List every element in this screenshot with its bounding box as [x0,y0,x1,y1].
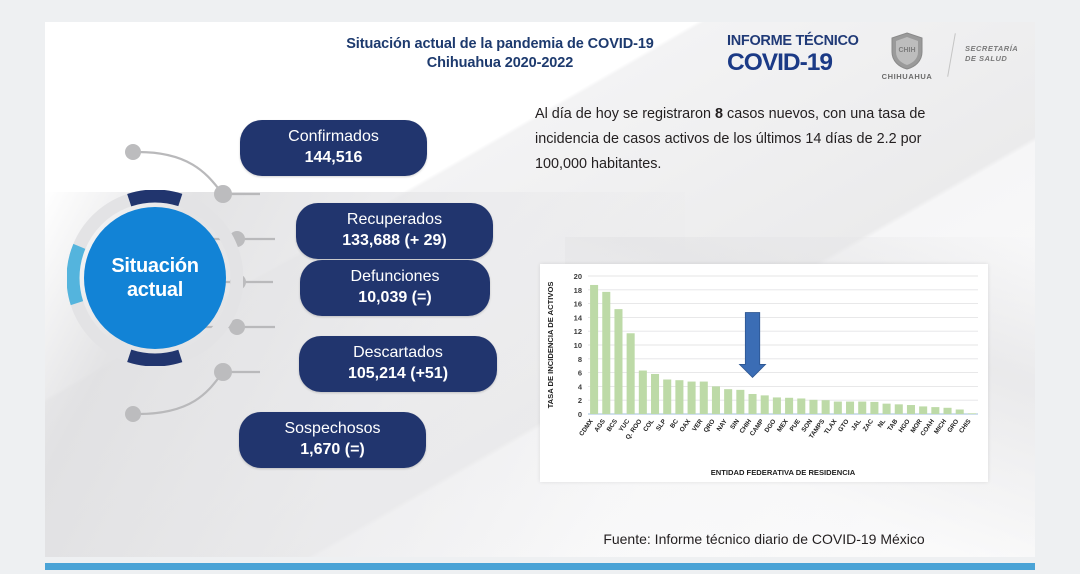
chart-x-tick-label: AGS [593,418,607,434]
chart-y-tick-label: 4 [578,382,583,391]
stat-pill-descartados[interactable]: Descartados 105,214 (+51) [299,336,497,392]
stat-label: Recuperados [314,210,475,230]
chart-x-tick-label: PUE [789,418,803,433]
chart-x-tick-label: SLP [655,418,668,433]
chihuahua-logo: CHIH CHIHUAHUA [873,32,941,81]
chart-bar [809,400,817,414]
page-title-line2: Chihuahua 2020-2022 [335,54,665,73]
chart-y-tick-label: 18 [574,286,582,295]
chart-bar [602,292,610,414]
slide-canvas: Situación actual de la pandemia de COVID… [45,22,1035,557]
page-gutter-right [1035,0,1080,574]
report-brand: INFORME TÉCNICO COVID-19 [727,33,867,75]
chart-bar [761,395,769,414]
secretaria-line1: SECRETARÍA [965,44,1018,54]
chart-bar [968,413,976,414]
stat-pill-defunciones[interactable]: Defunciones 10,039 (=) [300,260,490,316]
stat-label: Sospechosos [257,419,408,439]
chart-bar [590,285,598,414]
chart-bar [749,394,757,414]
situacion-actual-diagram: Situación actual Confirmados 144,516 Rec… [45,84,515,484]
chart-bar [675,380,683,414]
page-title: Situación actual de la pandemia de COVID… [335,35,665,73]
chihuahua-logo-label: CHIHUAHUA [873,72,941,81]
note-highlight: 8 [715,106,723,122]
chart-y-tick-label: 6 [578,369,582,378]
stat-value: 105,214 (+51) [317,363,479,384]
chart-bar [785,398,793,414]
slide-bottom-accent-bar [45,563,1035,570]
chart-bar [639,371,647,414]
chart-bar [834,402,842,414]
stat-value: 10,039 (=) [318,287,472,308]
chart-x-tick-label: DGO [763,418,777,434]
report-brand-title: COVID-19 [727,50,867,75]
chart-bar [736,390,744,414]
chart-bar [858,402,866,414]
chart-x-tick-label: CHIS [958,418,973,435]
screenshot-viewport: Situación actual de la pandemia de COVID… [0,0,1080,574]
chart-y-tick-label: 20 [574,272,582,281]
incidence-rate-chart-svg: 02468101214161820CDMXAGSBCSYUCQ. ROOCOLS… [540,264,988,482]
chart-y-tick-label: 14 [574,313,583,322]
chart-x-tick-label: MEX [776,418,790,434]
chart-bar [870,402,878,414]
stat-value: 133,688 (+ 29) [314,230,475,251]
chart-bar [651,374,659,414]
donut-center-label: Situación actual [67,190,243,366]
chart-x-tick-label: CAMP [749,418,766,438]
chart-x-tick-label: NL [877,418,888,429]
chart-y-tick-label: 16 [574,300,582,309]
chart-bar [846,402,854,414]
secretaria-de-salud-logo: SECRETARÍA DE SALUD [965,44,1018,64]
institution-logos: CHIH CHIHUAHUA SECRETARÍA DE SALUD [873,30,1033,86]
page-gutter-top [0,0,1080,22]
svg-text:CHIH: CHIH [898,47,915,54]
chart-x-tick-label: ZAC [862,418,875,433]
chart-x-tick-label: OAX [679,418,693,434]
chart-bar [773,397,781,414]
chart-bar [797,398,805,414]
chart-bar [907,405,915,414]
chart-bar [663,380,671,415]
chart-bar [919,406,927,414]
chart-x-tick-label: MICH [933,418,948,436]
incidence-rate-chart[interactable]: 02468101214161820CDMXAGSBCSYUCQ. ROOCOLS… [540,264,988,482]
page-title-line1: Situación actual de la pandemia de COVID… [335,35,665,54]
chart-y-axis-title: TASA DE INCIDENCIA DE ACTIVOS [546,282,555,409]
stat-pill-confirmados[interactable]: Confirmados 144,516 [240,120,427,176]
stat-pill-sospechosos[interactable]: Sospechosos 1,670 (=) [239,412,426,468]
chart-x-tick-label: QRO [703,418,717,434]
chart-bar [712,386,720,414]
chart-bar [883,404,891,414]
chart-y-tick-label: 10 [574,341,582,350]
chart-y-tick-label: 2 [578,396,582,405]
chart-bar [931,407,939,414]
donut-center-line1: Situación [111,254,198,278]
chart-x-tick-label: COL [642,418,656,433]
situacion-actual-donut: Situación actual [67,190,243,366]
chart-x-tick-label: COAH [919,418,936,438]
note-part1: Al día de hoy se registraron [535,106,715,122]
chart-x-axis-title: ENTIDAD FEDERATIVA DE RESIDENCIA [711,468,856,477]
chart-bar [688,382,696,414]
report-brand-subtitle: INFORME TÉCNICO [727,33,867,49]
chart-bar [614,309,622,414]
chart-bar [944,408,952,414]
stat-label: Descartados [317,343,479,363]
chart-bar [700,382,708,414]
chart-source-caption: Fuente: Informe técnico diario de COVID-… [540,531,988,547]
chart-bar [895,404,903,414]
stat-label: Defunciones [318,267,472,287]
chart-x-tick-label: HGO [898,418,912,434]
logo-divider [947,33,956,77]
chart-x-tick-label: JAL [850,418,863,432]
chart-y-tick-label: 0 [578,410,582,419]
chart-x-tick-label: NAY [716,418,730,433]
shield-icon: CHIH [890,32,924,70]
chart-x-tick-label: TLAX [823,418,839,436]
daily-summary-note: Al día de hoy se registraron 8 casos nue… [535,102,965,177]
stat-value: 144,516 [258,147,409,168]
stat-label: Confirmados [258,127,409,147]
chart-x-tick-label: GTO [837,418,851,433]
chart-x-tick-label: BCS [606,418,620,434]
chart-y-tick-label: 12 [574,327,582,336]
chart-bar [724,389,732,414]
chart-bar [822,400,830,414]
stat-pill-recuperados[interactable]: Recuperados 133,688 (+ 29) [296,203,493,259]
chart-bar [956,410,964,414]
secretaria-line2: DE SALUD [965,54,1018,64]
stat-value: 1,670 (=) [257,439,408,460]
donut-center-line2: actual [127,278,183,302]
chart-x-tick-label: CDMX [578,418,595,438]
chart-bar [627,333,635,414]
chart-y-tick-label: 8 [578,355,582,364]
page-gutter-left [0,0,45,574]
